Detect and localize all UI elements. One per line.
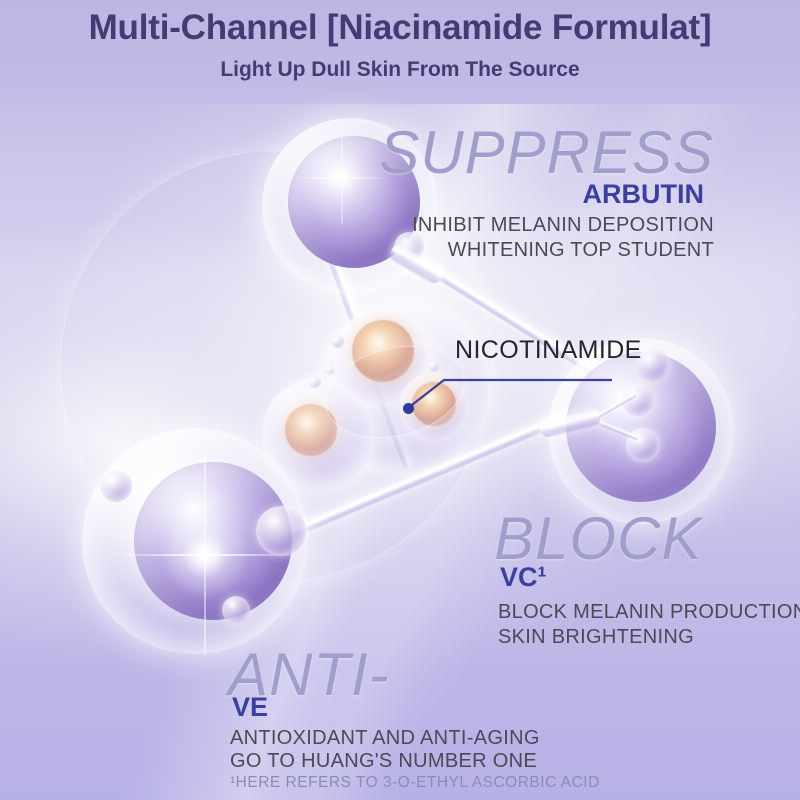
ingredient-name-vc: VC¹ [500,562,547,593]
molecule-node-ve-bubble-bottom [222,596,250,624]
ingredient-desc-ve-line2: GO TO HUANG'S NUMBER ONE [230,749,537,775]
ingredient-desc-arbutin-line1: INHIBIT MELANIN DEPOSITION [412,213,714,239]
footnote-ascorbic-acid: ¹HERE REFERS TO 3-O-ETHYL ASCORBIC ACID [230,774,600,792]
callout-anchor-dot [403,403,414,414]
poster-root: Multi-Channel [Niacinamide Formulat] Lig… [0,0,800,800]
cluster-microbubble-3 [309,376,321,388]
ghost-word-suppress: SUPPRESS [379,118,714,187]
ingredient-desc-ve-line1: ANTIOXIDANT AND ANTI-AGING [230,726,540,752]
molecule-node-ve-bubble-right [256,506,306,556]
ingredient-desc-vc-line1: BLOCK MELANIN PRODUCTION [498,600,800,626]
callout-label-nicotinamide: NICOTINAMIDE [455,336,642,365]
ingredient-desc-arbutin-line2: WHITENING TOP STUDENT [448,238,714,264]
cluster-microbubble-1 [331,335,344,348]
ingredient-name-ve: VE [232,692,268,723]
page-subtitle: Light Up Dull Skin From The Source [0,58,800,82]
ingredient-name-arbutin: ARBUTIN [583,179,705,210]
molecule-node-arbutin-highlight [322,158,362,198]
ingredient-desc-vc-line2: SKIN BRIGHTENING [498,625,694,651]
molecule-node-ve-starburst [162,512,248,598]
page-title: Multi-Channel [Niacinamide Formulat] [0,8,800,48]
molecule-node-ve-bubble-left [100,470,132,502]
cluster-microbubble-2 [325,365,335,375]
